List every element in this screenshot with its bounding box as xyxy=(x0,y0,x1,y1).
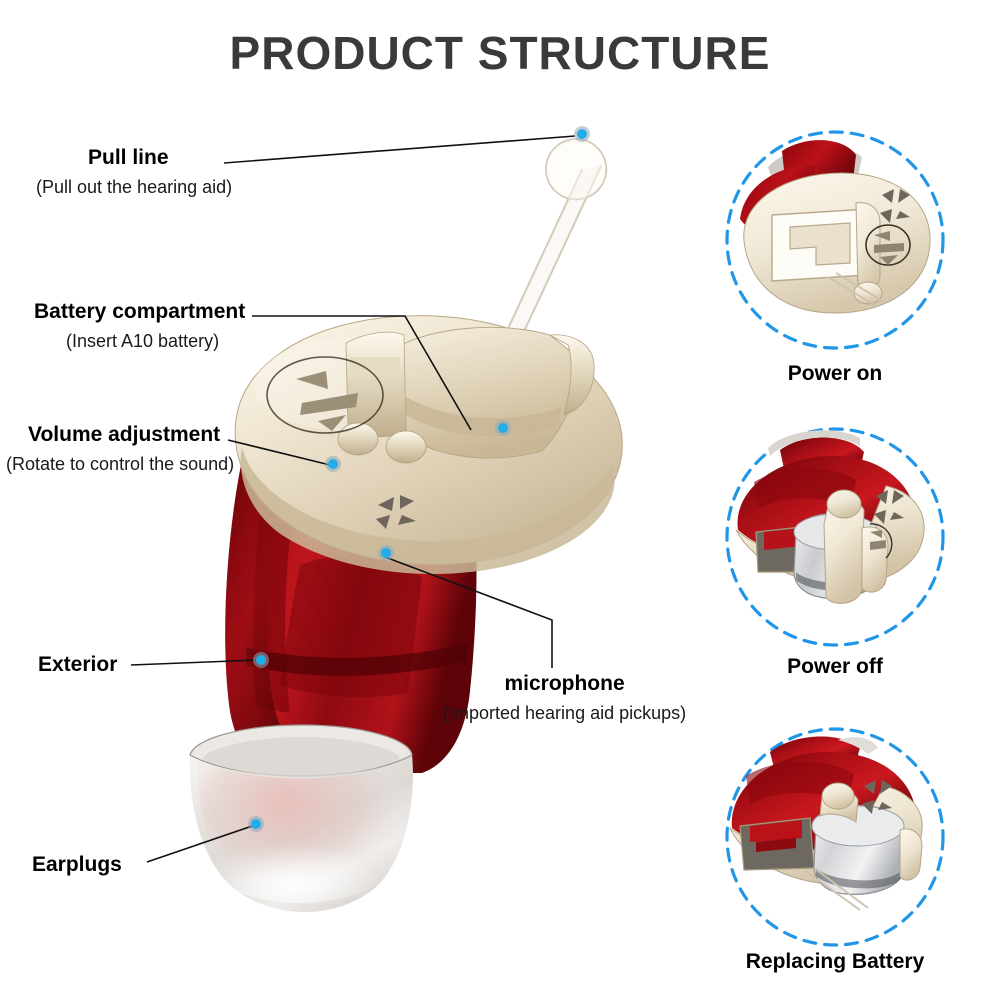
callout-earplugs-title: Earplugs xyxy=(32,853,122,876)
marker-dots xyxy=(248,126,590,832)
thumbnail-caption-power-off: Power off xyxy=(685,655,985,679)
callout-battery-compartment-title: Battery compartment xyxy=(34,300,245,323)
volume-dial-icon xyxy=(866,225,910,265)
callout-volume-adjustment: Volume adjustment (Rotate to control the… xyxy=(28,423,234,475)
earplug-dome xyxy=(190,725,413,912)
marker-dot-volume-adjustment xyxy=(325,456,341,472)
callout-microphone-subtitle: (Imported hearing aid pickups) xyxy=(443,704,686,724)
replacing-battery-figure xyxy=(710,712,960,962)
callout-battery-compartment: Battery compartment (Insert A10 battery) xyxy=(34,300,245,352)
callout-microphone-title: microphone xyxy=(443,672,686,695)
battery-compartment-door xyxy=(338,327,594,463)
callout-pull-line: Pull line (Pull out the hearing aid) xyxy=(88,146,232,198)
leader-exterior xyxy=(131,660,258,665)
volume-dial-icon xyxy=(870,524,892,558)
faceplate xyxy=(235,316,622,574)
dashed-circle-icon xyxy=(727,132,943,348)
callout-volume-adjustment-title: Volume adjustment xyxy=(28,423,234,446)
exterior-shell xyxy=(225,431,476,773)
callout-earplugs: Earplugs xyxy=(32,853,122,876)
callout-pull-line-subtitle: (Pull out the hearing aid) xyxy=(36,178,232,198)
thumbnail-caption-replacing-battery: Replacing Battery xyxy=(685,950,985,974)
power-on-figure xyxy=(710,115,960,365)
thumbnail-power-off xyxy=(710,412,960,662)
battery-cell xyxy=(812,806,904,895)
leader-battery-compartment xyxy=(252,316,471,430)
callout-microphone: microphone (Imported hearing aid pickups… xyxy=(443,672,686,724)
microphone-port xyxy=(376,495,416,529)
microphone-port-icon xyxy=(880,189,910,223)
callout-volume-adjustment-subtitle: (Rotate to control the sound) xyxy=(6,455,234,475)
leader-microphone xyxy=(385,557,552,668)
leader-earplugs xyxy=(147,825,255,862)
marker-dot-earplugs xyxy=(248,816,264,832)
thumbnail-replacing-battery xyxy=(710,712,960,962)
battery-cell xyxy=(794,514,878,599)
callout-exterior: Exterior xyxy=(38,653,117,676)
marker-dot-microphone xyxy=(378,545,394,561)
volume-dial xyxy=(267,357,383,433)
microphone-port-icon xyxy=(862,780,892,814)
leader-volume-adjustment xyxy=(228,440,330,465)
dashed-circle-icon xyxy=(727,729,943,945)
microphone-port-icon xyxy=(874,490,904,524)
callout-battery-compartment-subtitle: (Insert A10 battery) xyxy=(66,332,245,352)
marker-dot-battery-compartment xyxy=(495,420,511,436)
page-title: PRODUCT STRUCTURE xyxy=(0,26,1000,80)
thumbnail-power-on xyxy=(710,115,960,365)
leader-pull-line xyxy=(224,136,575,163)
callout-pull-line-title: Pull line xyxy=(88,146,232,169)
pull-line-wire xyxy=(468,139,606,417)
power-off-figure xyxy=(710,412,960,662)
marker-dot-exterior xyxy=(253,652,269,668)
hearing-aid-illustration xyxy=(150,95,670,975)
marker-dot-pull-line xyxy=(574,126,590,142)
callout-exterior-title: Exterior xyxy=(38,653,117,676)
dashed-circle-icon xyxy=(727,429,943,645)
thumbnail-caption-power-on: Power on xyxy=(685,362,985,386)
